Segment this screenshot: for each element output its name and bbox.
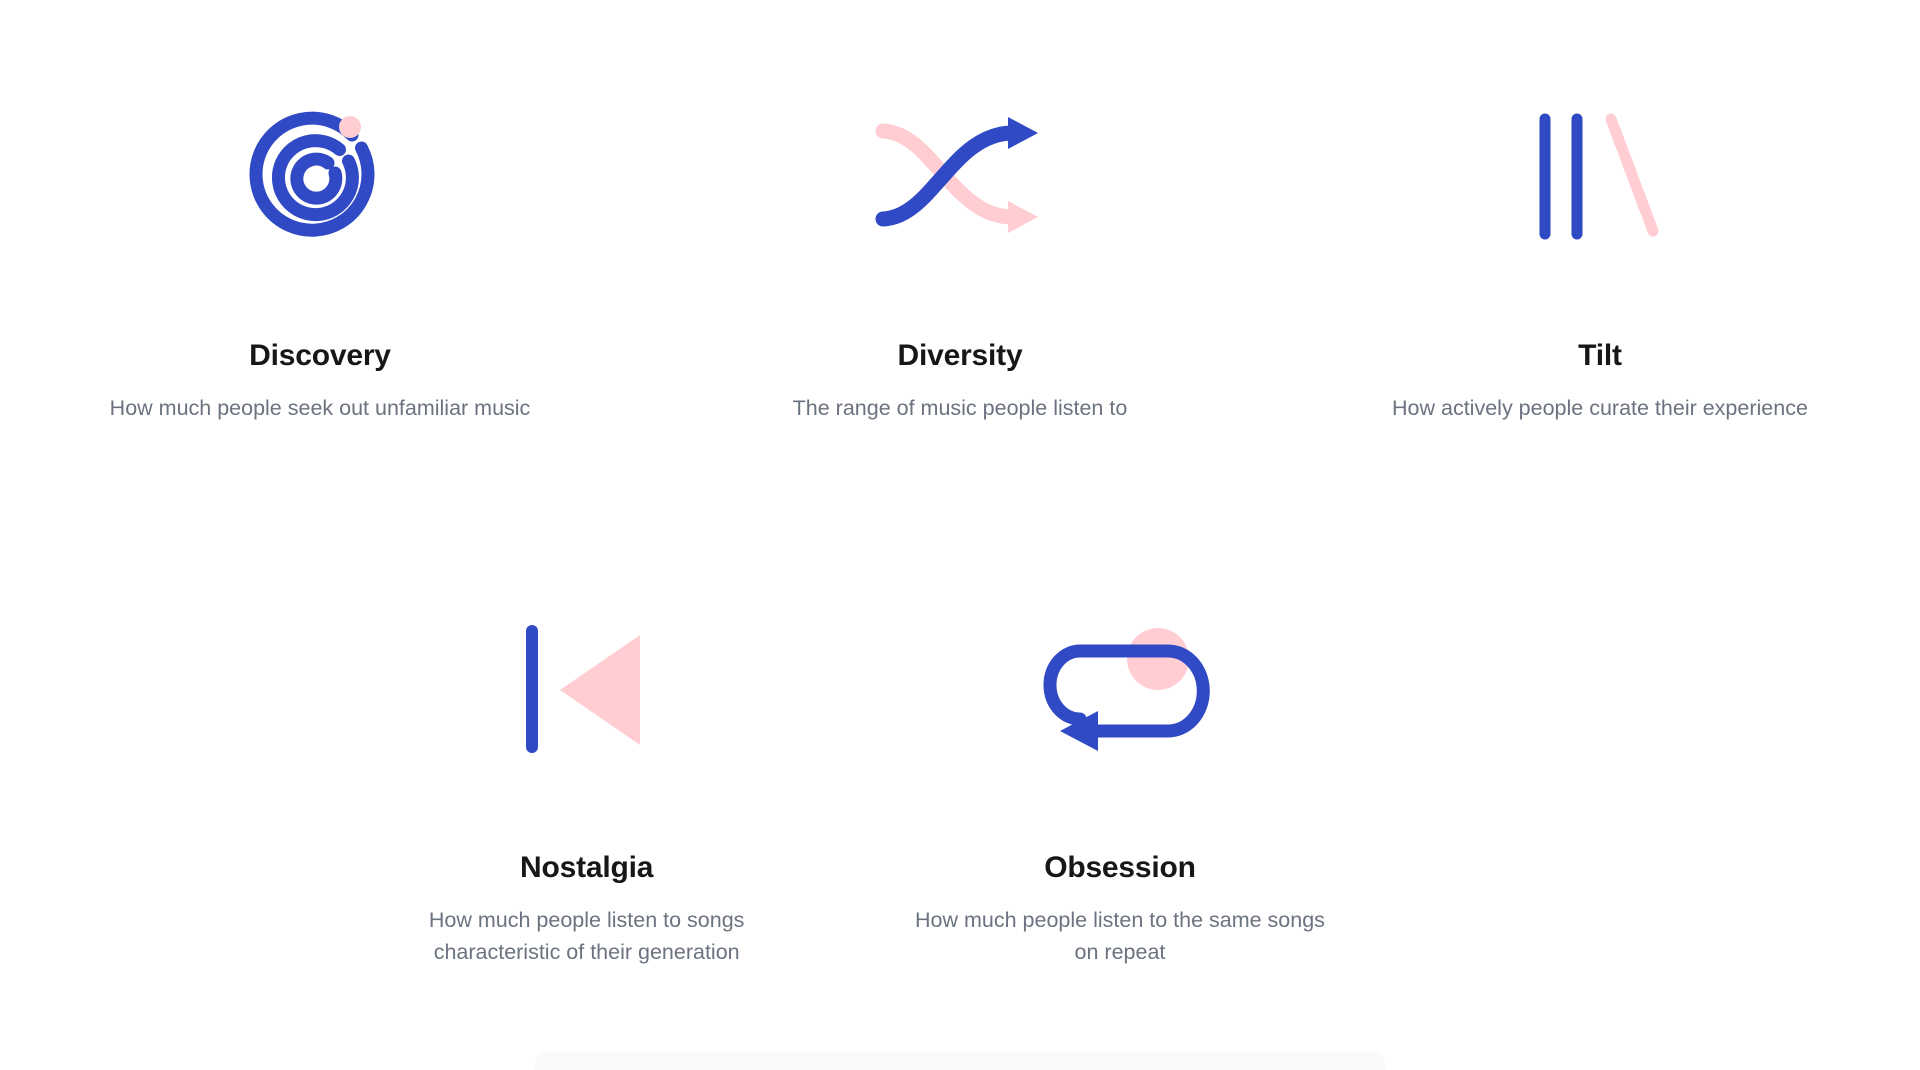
repeat-loop-icon xyxy=(1040,608,1200,768)
trait-title: Tilt xyxy=(1578,341,1622,371)
traits-row-bottom: Nostalgia How much people listen to song… xyxy=(0,608,1920,969)
previous-track-triangle xyxy=(560,635,640,745)
trait-title: Obsession xyxy=(1044,853,1196,883)
shuffle-blue-path xyxy=(883,133,1015,219)
previous-track-icon xyxy=(522,608,652,768)
listening-traits-page: Discovery How much people seek out unfam… xyxy=(0,0,1920,1070)
trait-card-diversity[interactable]: Diversity The range of music people list… xyxy=(640,96,1280,425)
trait-card-obsession[interactable]: Obsession How much people listen to the … xyxy=(853,608,1386,969)
trait-description: How much people seek out unfamiliar musi… xyxy=(110,393,531,425)
shuffle-blue-arrowhead xyxy=(1008,117,1038,149)
trait-title: Nostalgia xyxy=(520,853,653,883)
trait-card-tilt[interactable]: Tilt How actively people curate their ex… xyxy=(1280,96,1920,425)
trait-card-discovery[interactable]: Discovery How much people seek out unfam… xyxy=(0,96,640,425)
trait-title: Diversity xyxy=(898,341,1023,371)
tilted-bars-icon xyxy=(1535,96,1665,256)
trait-description: How much people listen to songs characte… xyxy=(372,905,802,969)
shuffle-icon xyxy=(875,96,1045,256)
trait-card-nostalgia[interactable]: Nostalgia How much people listen to song… xyxy=(320,608,853,969)
shuffle-pink-arrowhead xyxy=(1008,201,1038,233)
trait-description: How much people listen to the same songs… xyxy=(905,905,1335,969)
tilt-bar-3-tilted xyxy=(1611,119,1653,231)
traits-row-top: Discovery How much people seek out unfam… xyxy=(0,96,1920,425)
trait-description: The range of music people listen to xyxy=(793,393,1128,425)
trait-title: Discovery xyxy=(249,341,391,371)
trait-description: How actively people curate their experie… xyxy=(1392,393,1808,425)
radar-discovery-icon xyxy=(245,96,395,256)
bottom-sheet-edge xyxy=(535,1052,1385,1070)
radar-dot-icon xyxy=(339,116,361,138)
